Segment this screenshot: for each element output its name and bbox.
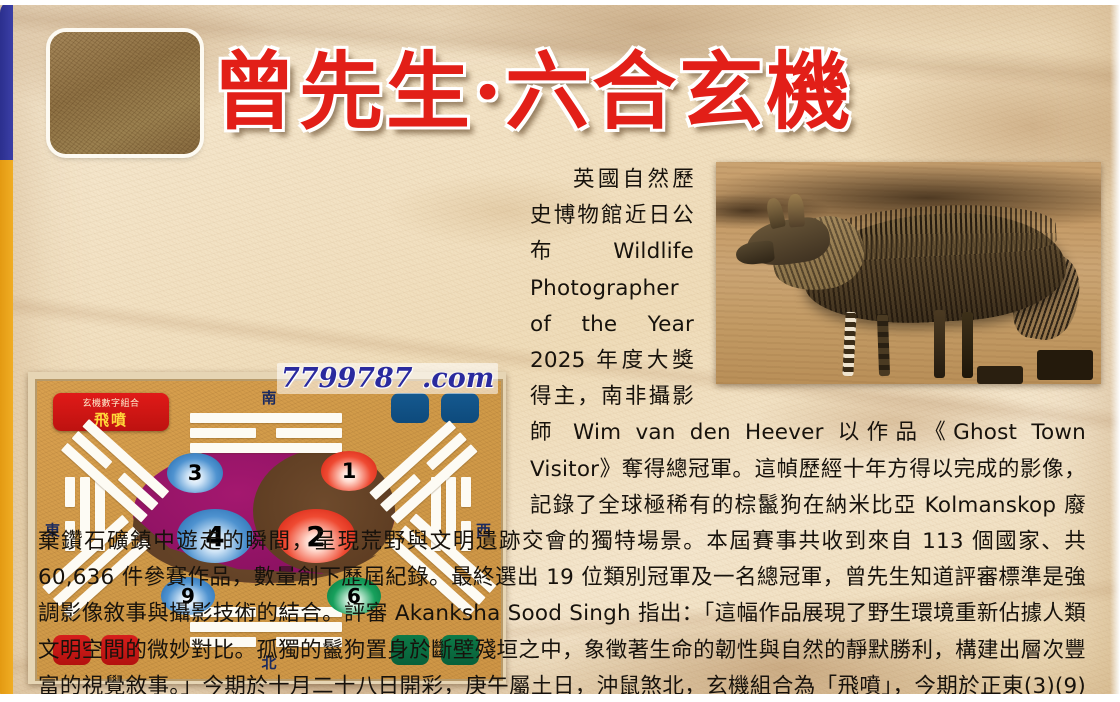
board-text-wrap-spacer <box>38 172 516 492</box>
article-body: 英國自然歷史博物館近日公布 Wildlife Photographer of t… <box>38 162 1086 702</box>
website-watermark: 7799787 .com <box>277 363 498 394</box>
photo-text-wrap-spacer <box>706 162 1086 390</box>
newspaper-page: 曾先生·六合玄機 玄機數字組合 飛噴 南 <box>0 0 1120 702</box>
bottom-edge <box>0 694 1120 702</box>
top-edge <box>0 0 1120 5</box>
page-title: 曾先生·六合玄機 <box>212 40 1072 145</box>
left-edge-purple <box>0 0 13 160</box>
right-edge-fade <box>1110 0 1120 702</box>
left-edge-strip <box>0 0 13 702</box>
left-edge-orange <box>0 160 13 702</box>
stone-swatch-logo <box>50 32 200 154</box>
